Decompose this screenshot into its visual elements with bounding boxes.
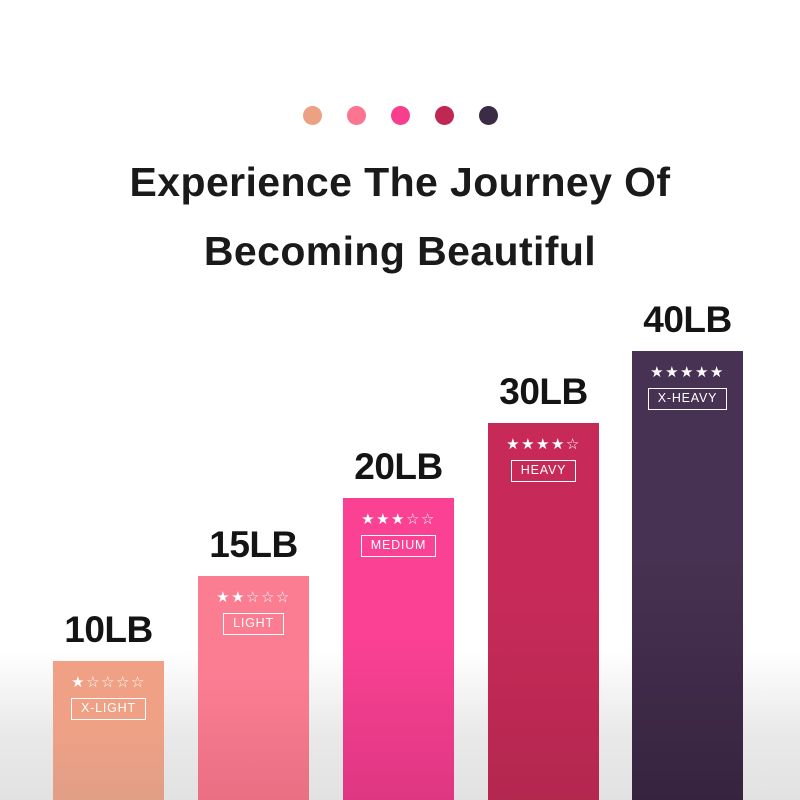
star-rating-icon: ★★☆☆☆ [216, 590, 291, 605]
bar-weight-label: 10LB [64, 611, 152, 648]
page-title: Experience The Journey Of Becoming Beaut… [0, 148, 800, 286]
dot-heavy-icon [435, 106, 454, 125]
dot-medium-icon [391, 106, 410, 125]
resistance-tag: LIGHT [223, 613, 284, 635]
resistance-tag: X-HEAVY [648, 388, 728, 410]
star-rating-icon: ★★★☆☆ [361, 512, 436, 527]
bar-weight-label: 20LB [354, 448, 442, 485]
bar-weight-label: 15LB [209, 526, 297, 563]
bar-column-x-light[interactable]: 10LB★☆☆☆☆X-LIGHT [53, 611, 164, 800]
decorative-dot-row [0, 106, 800, 125]
bar-body: ★★★★☆HEAVY [488, 423, 599, 800]
bar-body: ★★★★★X-HEAVY [632, 351, 743, 800]
bar-weight-label: 40LB [643, 301, 731, 338]
bar-body: ★★★☆☆MEDIUM [343, 498, 454, 800]
bar-body: ★★☆☆☆LIGHT [198, 576, 309, 800]
page-title-line-1: Experience The Journey Of [0, 148, 800, 217]
bar-column-heavy[interactable]: 30LB★★★★☆HEAVY [488, 373, 599, 800]
bar-body: ★☆☆☆☆X-LIGHT [53, 661, 164, 800]
star-rating-icon: ★★★★★ [650, 365, 725, 380]
resistance-tag: X-LIGHT [71, 698, 146, 720]
resistance-tag: MEDIUM [361, 535, 437, 557]
dot-light-icon [347, 106, 366, 125]
product-infographic: Experience The Journey Of Becoming Beaut… [0, 0, 800, 800]
resistance-tag: HEAVY [511, 460, 576, 482]
bar-weight-label: 30LB [499, 373, 587, 410]
star-rating-icon: ★☆☆☆☆ [71, 675, 146, 690]
dot-x-light-icon [303, 106, 322, 125]
bar-column-x-heavy[interactable]: 40LB★★★★★X-HEAVY [632, 301, 743, 800]
star-rating-icon: ★★★★☆ [506, 437, 581, 452]
dot-x-heavy-icon [479, 106, 498, 125]
bar-column-medium[interactable]: 20LB★★★☆☆MEDIUM [343, 448, 454, 800]
bar-column-light[interactable]: 15LB★★☆☆☆LIGHT [198, 526, 309, 800]
resistance-band-bar-chart: 10LB★☆☆☆☆X-LIGHT15LB★★☆☆☆LIGHT20LB★★★☆☆M… [0, 280, 800, 800]
page-title-line-2: Becoming Beautiful [0, 217, 800, 286]
